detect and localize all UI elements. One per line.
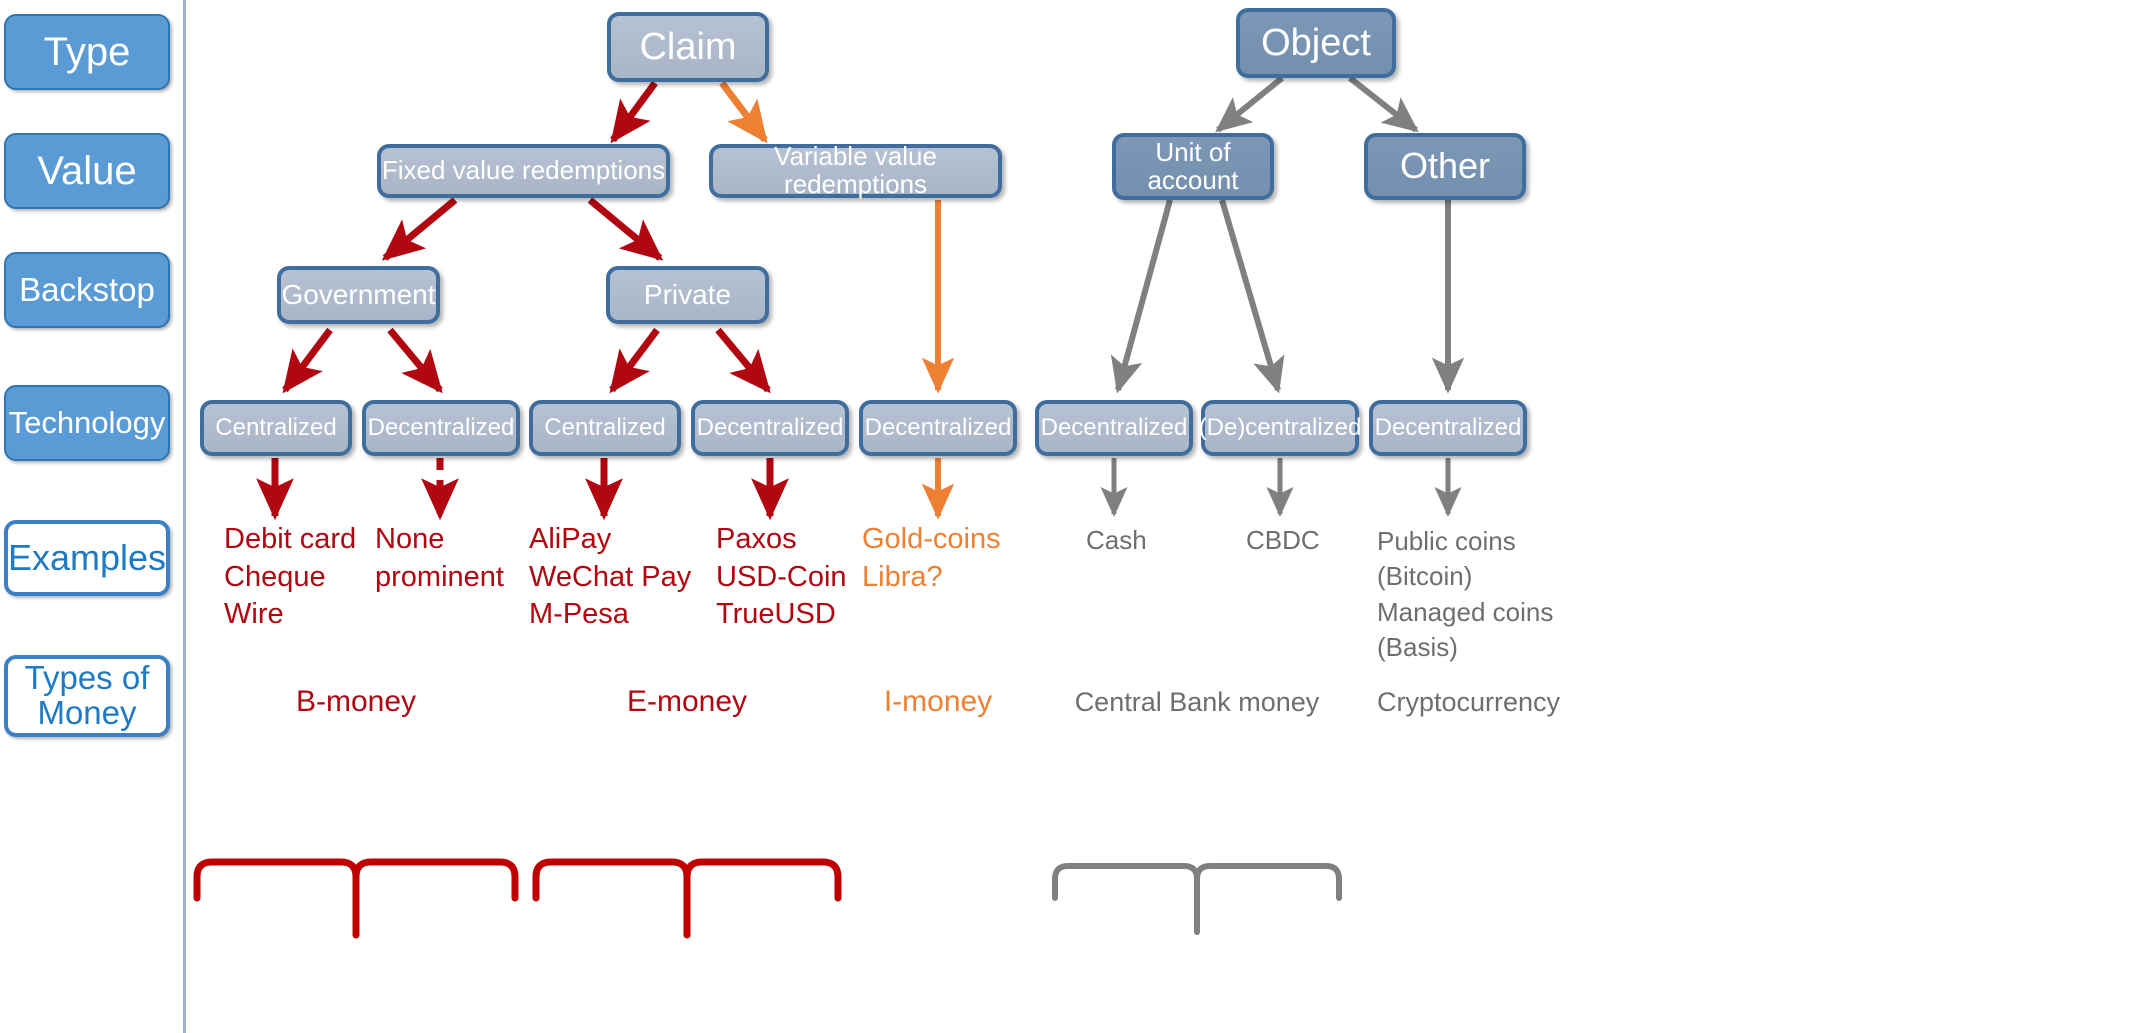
edge-unit-of-account-to-decentralized xyxy=(1118,200,1170,390)
row-label-value: Value xyxy=(4,133,170,209)
b-money-bracket-group xyxy=(197,862,515,935)
node-private-label: Private xyxy=(644,280,731,310)
node-tech-var-decentralized[interactable]: Decentralized xyxy=(859,400,1017,456)
node-tech-gov-decentralized[interactable]: Decentralized xyxy=(362,400,520,456)
edge-claim-to-fixed-value xyxy=(613,83,655,140)
node-tech-priv-centralized[interactable]: Centralized xyxy=(529,400,681,456)
examples-b-money-centralized: Debit card Cheque Wire xyxy=(224,521,356,634)
node-tech-var-decentralized-label: Decentralized xyxy=(865,415,1012,440)
node-tech-gov-centralized-label: Centralized xyxy=(215,415,336,440)
edge-government-to-centralized xyxy=(285,330,330,390)
edge-fixed-value-to-private xyxy=(590,200,660,258)
row-label-type-text: Type xyxy=(44,31,131,73)
row-label-technology: Technology xyxy=(4,385,170,461)
node-claim-label: Claim xyxy=(639,27,736,67)
node-government-label: Government xyxy=(281,280,435,310)
row-label-type: Type xyxy=(4,14,170,90)
edge-object-to-unit-of-account xyxy=(1218,78,1282,130)
node-object-label: Object xyxy=(1261,23,1371,63)
money-label-central-bank-money: Central Bank money xyxy=(1047,687,1347,718)
edge-government-to-decentralized xyxy=(390,330,440,390)
central-bank-money-bracket-group xyxy=(1055,866,1339,932)
column-divider xyxy=(183,0,186,1033)
examples-i-money: Gold-coins Libra? xyxy=(862,521,1001,596)
row-label-examples-text: Examples xyxy=(8,539,166,577)
node-government[interactable]: Government xyxy=(277,266,440,324)
bracket-b-money xyxy=(196,860,370,920)
examples-e-money-centralized: AliPay WeChat Pay M-Pesa xyxy=(529,521,691,634)
node-tech-uoa-de-centralized-label: (De)centralized xyxy=(1199,415,1362,440)
edge-claim-to-variable-value xyxy=(722,83,765,140)
money-label-b-money: B-money xyxy=(256,685,456,719)
node-tech-priv-centralized-label: Centralized xyxy=(544,415,665,440)
node-private[interactable]: Private xyxy=(606,266,769,324)
node-tech-uoa-decentralized[interactable]: Decentralized xyxy=(1035,400,1193,456)
node-tech-other-decentralized[interactable]: Decentralized xyxy=(1369,400,1527,456)
money-label-e-money: E-money xyxy=(587,685,787,719)
examples-b-money-decentralized: None prominent xyxy=(375,521,504,596)
edge-private-to-decentralized xyxy=(718,330,768,390)
node-tech-priv-decentralized-label: Decentralized xyxy=(697,415,844,440)
examples-cash: Cash xyxy=(1086,524,1147,558)
row-label-types-of-money-text: Types of Money xyxy=(25,661,150,731)
money-label-cryptocurrency: Cryptocurrency xyxy=(1377,687,1617,718)
node-other[interactable]: Other xyxy=(1364,133,1526,200)
row-label-examples: Examples xyxy=(4,520,170,596)
node-unit-of-account[interactable]: Unit of account xyxy=(1112,133,1274,200)
node-tech-gov-decentralized-label: Decentralized xyxy=(368,415,515,440)
node-tech-priv-decentralized[interactable]: Decentralized xyxy=(691,400,849,456)
row-label-backstop: Backstop xyxy=(4,252,170,328)
edge-unit-of-account-to-de-centralized xyxy=(1222,200,1278,390)
node-tech-other-decentralized-label: Decentralized xyxy=(1375,415,1522,440)
node-unit-of-account-label: Unit of account xyxy=(1147,139,1238,194)
money-label-i-money: I-money xyxy=(838,685,1038,719)
row-label-backstop-text: Backstop xyxy=(19,273,155,308)
taxonomy-of-money-diagram: Type Value Backstop Technology Examples … xyxy=(0,0,2145,1033)
node-tech-uoa-decentralized-label: Decentralized xyxy=(1041,415,1188,440)
node-claim[interactable]: Claim xyxy=(607,12,769,82)
node-fixed-value-redemptions-label: Fixed value redemptions xyxy=(382,157,665,185)
node-fixed-value-redemptions[interactable]: Fixed value redemptions xyxy=(377,144,670,198)
bracket-b-money-curly xyxy=(196,860,370,922)
bracket-b-money-shape xyxy=(196,860,373,922)
b-money-brace xyxy=(197,860,369,916)
node-tech-gov-centralized[interactable]: Centralized xyxy=(200,400,352,456)
examples-cbdc: CBDC xyxy=(1246,524,1320,558)
row-label-types-of-money: Types of Money xyxy=(4,655,170,737)
node-variable-value-redemptions-label: Variable value redemptions xyxy=(713,143,998,198)
row-label-value-text: Value xyxy=(37,150,136,192)
connector-layer xyxy=(0,0,2145,1033)
edge-object-to-other xyxy=(1350,78,1416,130)
node-object[interactable]: Object xyxy=(1236,8,1396,78)
edge-private-to-centralized xyxy=(612,330,657,390)
node-other-label: Other xyxy=(1400,147,1490,185)
row-label-technology-text: Technology xyxy=(9,407,166,440)
e-money-bracket-group xyxy=(536,862,838,935)
examples-e-money-decentralized: Paxos USD-Coin TrueUSD xyxy=(716,521,847,634)
node-tech-uoa-de-centralized[interactable]: (De)centralized xyxy=(1201,400,1359,456)
node-variable-value-redemptions[interactable]: Variable value redemptions xyxy=(709,144,1002,198)
edge-fixed-value-to-government xyxy=(385,200,455,258)
examples-cryptocurrency: Public coins (Bitcoin) Managed coins (Ba… xyxy=(1377,524,1553,665)
bracket-b-money-path xyxy=(196,860,381,928)
